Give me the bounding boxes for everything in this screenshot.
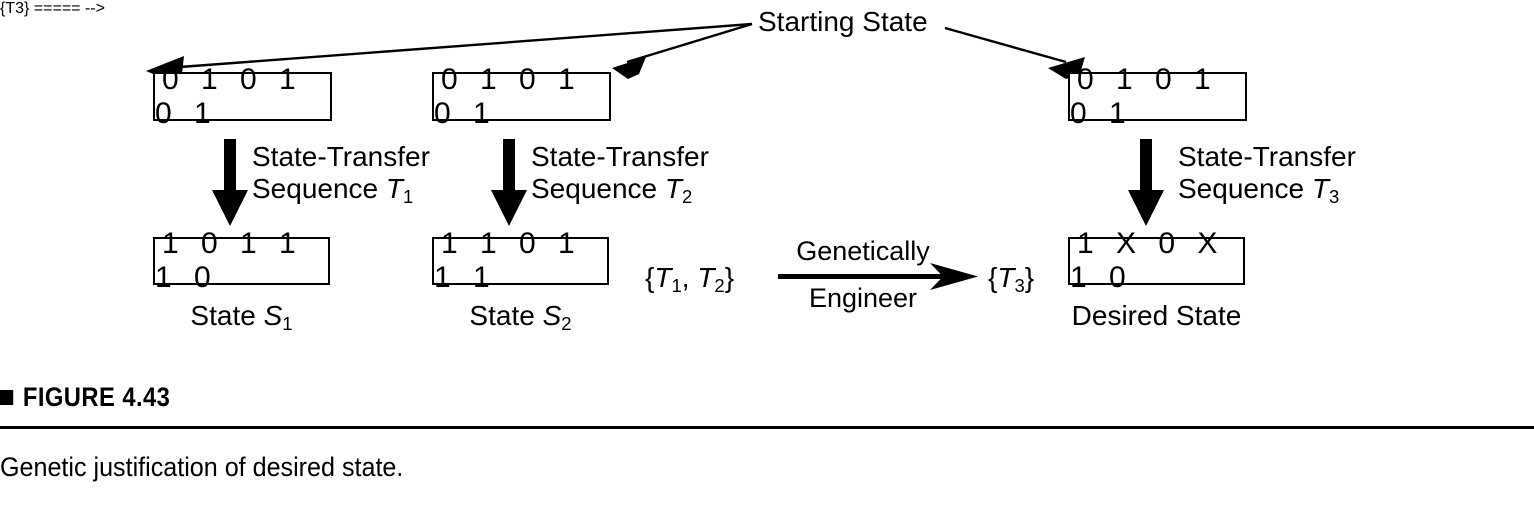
result-state-box-column-2: 1 1 0 1 1 1 — [432, 237, 609, 285]
result-state-label-column-1: State S1 — [153, 300, 330, 332]
starting-state-label: Starting State — [758, 6, 928, 38]
figure-number-row: FIGURE 4.43 — [0, 382, 1350, 413]
result-state-label-column-3: Desired State — [1063, 300, 1250, 332]
start-state-box-column-2: 0 1 0 1 0 1 — [432, 72, 611, 121]
transfer-arrow-column-2 — [491, 139, 527, 226]
figure-caption-block: FIGURE 4.43 Genetic justification of des… — [0, 382, 1534, 483]
source-transfer-set-label: {T1, T2} — [645, 262, 734, 294]
target-transfer-set-label: {T3} — [988, 262, 1034, 294]
state-transfer-line1-column-3: State-Transfer — [1178, 141, 1356, 173]
state-transfer-label-column-3: State-Transfer Sequence T3 — [1178, 141, 1356, 205]
start-state-box-column-3: 0 1 0 1 0 1 — [1068, 72, 1247, 121]
state-transfer-line1-column-1: State-Transfer — [252, 141, 430, 173]
leader-line-to-column-1 — [180, 24, 752, 67]
transfer-arrow-column-1 — [212, 139, 248, 226]
figure-root: Starting State 0 1 0 1 0 1 0 1 0 1 0 1 0… — [0, 0, 1534, 519]
result-state-box-column-3: 1 X 0 X 1 0 — [1068, 237, 1245, 285]
state-transfer-label-column-2: State-Transfer Sequence T2 — [531, 141, 709, 205]
state-transfer-line2-column-2: Sequence T2 — [531, 173, 709, 205]
figure-caption-text: Genetic justification of desired state. — [0, 452, 1427, 483]
state-transfer-line1-column-2: State-Transfer — [531, 141, 709, 173]
start-state-box-column-1: 0 1 0 1 0 1 — [153, 72, 332, 121]
state-transfer-line2-column-1: Sequence T1 — [252, 173, 430, 205]
leader-line-to-column-3 — [945, 28, 1066, 62]
result-state-box-column-1: 1 0 1 1 1 0 — [153, 237, 330, 285]
genetically-engineer-label-line2: Engineer — [778, 283, 948, 314]
state-transfer-label-column-1: State-Transfer Sequence T1 — [252, 141, 430, 205]
result-state-label-column-2: State S2 — [432, 300, 609, 332]
figure-number-label: FIGURE 4.43 — [23, 382, 170, 413]
square-bullet-icon — [0, 390, 13, 405]
transfer-arrow-column-3 — [1128, 139, 1164, 226]
state-transfer-line2-column-3: Sequence T3 — [1178, 173, 1356, 205]
caption-divider-rule — [0, 426, 1534, 429]
genetically-engineer-label-line1: Genetically — [778, 236, 948, 267]
starting-state-leader-lines — [180, 24, 1066, 67]
